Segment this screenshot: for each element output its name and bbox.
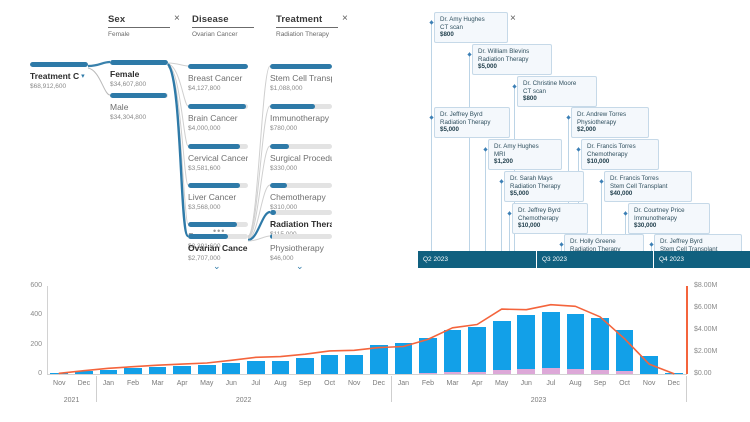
gantt-event-marker-icon: [429, 20, 433, 24]
ovarian-cancer-bar-fill: [188, 234, 228, 239]
combo-bar-base-segment[interactable]: [419, 373, 437, 374]
gantt-card-procedure: CT scan: [523, 88, 592, 96]
combo-right-tick: $4.00M: [694, 326, 717, 334]
combo-month-label: Dec: [660, 380, 688, 388]
surgical-bar-track: [270, 144, 332, 149]
gantt-card-amount: $1,200: [494, 158, 557, 166]
filter-disease-underline: [192, 27, 254, 28]
combo-year-separator: [391, 376, 392, 402]
gantt-event-card[interactable]: Dr. Amy HughesCT scan$800: [434, 12, 508, 43]
treatment-breakdown-sankey: Sex Female × Disease Ovarian Cancer × Tr…: [0, 0, 400, 278]
combo-left-axis-line: [47, 286, 48, 374]
gantt-card-doctor: Dr. Amy Hughes: [494, 143, 557, 151]
cervical-cancer-value: $3,581,600: [188, 165, 248, 173]
immunotherapy-label: Immunotherapy: [270, 113, 332, 124]
gantt-card-doctor: Dr. Jeffrey Byrd: [660, 238, 737, 246]
sankey-node-chemotherapy[interactable]: Chemotherapy $310,000: [270, 183, 332, 212]
filter-sex-name: Sex: [108, 14, 170, 25]
combo-bar[interactable]: [124, 368, 142, 374]
combo-bar-base-segment[interactable]: [517, 369, 535, 374]
gantt-event-card[interactable]: Dr. Courtney PriceImmunotherapy$30,000: [628, 203, 710, 234]
radiation-bar-fill: [270, 210, 276, 215]
female-label: Female: [110, 69, 168, 80]
gantt-card-doctor: Dr. Francis Torres: [587, 143, 654, 151]
liver-cancer-bar-fill: [188, 183, 240, 188]
gantt-card-procedure: Radiation Therapy: [510, 183, 579, 191]
sankey-node-breast-cancer[interactable]: Breast Cancer $4,127,800: [188, 64, 248, 93]
gantt-card-amount: $10,000: [518, 222, 583, 230]
root-bar-track: [30, 62, 88, 67]
physiotherapy-bar-fill: [270, 234, 272, 239]
physiotherapy-label: Physiotherapy: [270, 243, 332, 254]
gantt-card-amount: $30,000: [634, 222, 705, 230]
sankey-node-surgical-procedure[interactable]: Surgical Procedure $330,000: [270, 144, 332, 173]
cervical-cancer-label: Cervical Cancer: [188, 153, 248, 164]
combo-year-label: 2022: [224, 397, 264, 405]
gantt-event-marker-icon: [649, 242, 653, 246]
liver-cancer-value: $3,568,000: [188, 204, 248, 212]
brain-cancer-bar-fill: [188, 104, 246, 109]
sankey-node-brain-cancer[interactable]: Brain Cancer $4,000,000: [188, 104, 248, 133]
combo-bar[interactable]: [222, 363, 240, 374]
filter-sex-close-icon[interactable]: ×: [174, 13, 180, 24]
combo-left-tick: 0: [10, 370, 42, 378]
root-label-text: Treatment C: [30, 71, 79, 81]
stem-cell-value: $1,088,000: [270, 85, 332, 93]
combo-left-tick: 400: [10, 311, 42, 319]
combo-bar[interactable]: [50, 373, 68, 374]
male-bar-fill: [110, 93, 167, 98]
breast-cancer-bar-fill: [188, 64, 248, 69]
gantt-card-amount: $2,000: [577, 126, 644, 134]
gantt-card-doctor: Dr. Courtney Price: [634, 207, 705, 215]
gantt-card-amount: $800: [440, 31, 503, 39]
gantt-quarter-label: Q4 2023: [653, 251, 750, 268]
gantt-event-marker-icon: [429, 115, 433, 119]
breast-cancer-bar-track: [188, 64, 248, 69]
breast-cancer-label: Breast Cancer: [188, 73, 248, 84]
sankey-node-liver-cancer[interactable]: Liver Cancer $3,568,000: [188, 183, 248, 212]
surgical-value: $330,000: [270, 165, 332, 173]
combo-bar[interactable]: [468, 327, 486, 374]
gantt-card-procedure: Immunotherapy: [634, 215, 705, 223]
sankey-node-ovarian-cancer[interactable]: Ovarian Cancer $2,707,000: [188, 234, 248, 263]
combo-right-tick: $6.00M: [694, 304, 717, 312]
immunotherapy-bar-fill: [270, 104, 315, 109]
combo-bar[interactable]: [567, 314, 585, 374]
stem-cell-label: Stem Cell Transplant: [270, 73, 332, 84]
ovarian-cancer-bar-track: [188, 234, 248, 239]
combo-bar[interactable]: [345, 355, 363, 374]
filter-bar: Sex Female × Disease Ovarian Cancer × Tr…: [108, 14, 358, 48]
chemotherapy-label: Chemotherapy: [270, 192, 332, 203]
combo-right-tick: $0.00: [694, 370, 712, 378]
gantt-card-doctor: Dr. Jeffrey Byrd: [440, 111, 505, 119]
gantt-card-doctor: Dr. Christine Moore: [523, 80, 592, 88]
female-value: $34,607,800: [110, 81, 168, 89]
combo-bar-base-segment[interactable]: [468, 372, 486, 374]
gantt-event-marker-icon: [507, 211, 511, 215]
combo-bar[interactable]: [296, 358, 314, 374]
sankey-node-cervical-cancer[interactable]: Cervical Cancer $3,581,600: [188, 144, 248, 173]
surgical-label: Surgical Procedure: [270, 153, 332, 164]
gantt-quarter-axis: Q2 2023Q3 2023Q4 2023: [418, 251, 750, 268]
gantt-event-marker-icon: [499, 179, 503, 183]
male-bar-track: [110, 93, 168, 98]
gantt-event-marker-icon: [559, 242, 563, 246]
breast-cancer-value: $4,127,800: [188, 85, 248, 93]
radiation-bar-track: [270, 210, 332, 215]
combo-right-tick: $2.00M: [694, 348, 717, 356]
gantt-card-doctor: Dr. Jeffrey Byrd: [518, 207, 583, 215]
gantt-event-gridline: [485, 147, 486, 251]
gantt-event-card[interactable]: Dr. Jeffrey ByrdChemotherapy$10,000: [512, 203, 588, 234]
combo-bar-base-segment[interactable]: [444, 372, 462, 374]
disease-expand-chevron-icon[interactable]: ⌄: [213, 262, 221, 271]
gantt-card-doctor: Dr. Andrew Torres: [577, 111, 644, 119]
radiation-label: Radiation Therapy: [270, 219, 332, 230]
combo-bar[interactable]: [100, 370, 118, 374]
combo-baseline: [47, 374, 687, 375]
cervical-cancer-bar-track: [188, 144, 248, 149]
sankey-node-stem-cell-transplant[interactable]: Stem Cell Transplant $1,088,000: [270, 64, 332, 93]
volume-and-cost-combo-chart: 0200400600 $0.00$2.00M$4.00M$6.00M$8.00M…: [0, 282, 750, 422]
gantt-card-procedure: MRI: [494, 151, 557, 159]
liver-cancer-label: Liver Cancer: [188, 192, 248, 203]
combo-bar-base-segment[interactable]: [591, 370, 609, 374]
filter-sex-underline: [108, 27, 170, 28]
combo-bar[interactable]: [149, 367, 167, 374]
treatment-expand-chevron-icon[interactable]: ⌄: [296, 262, 304, 271]
gantt-card-amount: $40,000: [610, 190, 687, 198]
gantt-card-procedure: Physiotherapy: [577, 119, 644, 127]
combo-bar[interactable]: [542, 312, 560, 374]
filter-disease[interactable]: Disease Ovarian Cancer ×: [192, 14, 254, 39]
gantt-event-marker-icon: [467, 52, 471, 56]
gantt-event-card[interactable]: Dr. Amy HughesMRI$1,200: [488, 139, 562, 170]
combo-bar-base-segment[interactable]: [567, 369, 585, 374]
gantt-event-gridline: [501, 179, 502, 251]
filter-treatment-value: Radiation Therapy: [276, 31, 338, 39]
female-bar-fill: [110, 60, 168, 65]
gantt-event-gridline: [509, 211, 510, 251]
combo-left-tick: 200: [10, 341, 42, 349]
combo-right-tick: $8.00M: [694, 282, 717, 290]
combo-bar[interactable]: [517, 315, 535, 374]
gantt-card-procedure: Radiation Therapy: [440, 119, 505, 127]
treatment-timeline-gantt: Dr. Amy HughesCT scan$800Dr. William Ble…: [418, 8, 750, 276]
gantt-event-card[interactable]: Dr. Jeffrey ByrdRadiation Therapy$5,000: [434, 107, 510, 138]
filter-sex[interactable]: Sex Female ×: [108, 14, 170, 39]
chemotherapy-bar-track: [270, 183, 332, 188]
combo-bar-base-segment[interactable]: [542, 368, 560, 374]
combo-year-label: 2021: [52, 397, 92, 405]
cervical-cancer-bar-fill: [188, 144, 240, 149]
combo-bar[interactable]: [395, 343, 413, 374]
combo-bar[interactable]: [419, 338, 437, 374]
physiotherapy-bar-track: [270, 234, 332, 239]
combo-bar[interactable]: [493, 321, 511, 374]
sankey-node-physiotherapy[interactable]: Physiotherapy $46,000: [270, 234, 332, 263]
root-label: Treatment C▾: [30, 71, 88, 82]
combo-year-label: 2023: [519, 397, 559, 405]
ovarian-cancer-label: Ovarian Cancer: [188, 243, 248, 254]
combo-bar[interactable]: [75, 371, 93, 374]
immunotherapy-value: $780,000: [270, 125, 332, 133]
root-value: $68,912,600: [30, 83, 88, 91]
sankey-node-root[interactable]: Treatment C▾ $68,912,600: [30, 62, 88, 91]
female-bar-track: [110, 60, 168, 65]
root-bar-fill: [30, 62, 88, 67]
gantt-card-procedure: Chemotherapy: [587, 151, 654, 159]
filter-disease-close-icon[interactable]: ×: [342, 13, 348, 24]
gantt-event-marker-icon: [483, 147, 487, 151]
gantt-event-marker-icon: [599, 179, 603, 183]
gantt-event-card[interactable]: Dr. Sarah MaysRadiation Therapy$5,000: [504, 171, 584, 202]
combo-year-separator-end: [686, 376, 687, 402]
combo-bar[interactable]: [591, 318, 609, 374]
gantt-event-marker-icon: [576, 147, 580, 151]
gantt-card-doctor: Dr. Amy Hughes: [440, 16, 503, 24]
liver-cancer-bar-track: [188, 183, 248, 188]
gantt-card-amount: $800: [523, 95, 592, 103]
combo-bar[interactable]: [444, 330, 462, 374]
gantt-event-gridline: [469, 52, 470, 251]
male-label: Male: [110, 102, 168, 113]
gantt-event-marker-icon: [566, 115, 570, 119]
stem-cell-bar-track: [270, 64, 332, 69]
gantt-card-amount: $5,000: [440, 126, 505, 134]
gantt-card-procedure: Chemotherapy: [518, 215, 583, 223]
filter-disease-name: Disease: [192, 14, 254, 25]
gantt-card-doctor: Dr. William Blevins: [478, 48, 547, 56]
brain-cancer-value: $4,000,000: [188, 125, 248, 133]
chemotherapy-bar-fill: [270, 183, 287, 188]
gantt-card-amount: $5,000: [478, 63, 547, 71]
combo-bar-base-segment[interactable]: [493, 370, 511, 374]
stem-cell-bar-fill: [270, 64, 332, 69]
combo-bar-base-segment[interactable]: [616, 371, 634, 374]
gantt-event-marker-icon: [623, 211, 627, 215]
combo-left-tick: 600: [10, 282, 42, 290]
gantt-card-procedure: Stem Cell Transplant: [610, 183, 687, 191]
gantt-event-marker-icon: [512, 84, 516, 88]
combo-bar[interactable]: [198, 365, 216, 374]
gantt-card-amount: $5,000: [510, 190, 579, 198]
gantt-event-card[interactable]: Dr. William BlevinsRadiation Therapy$5,0…: [472, 44, 552, 75]
immunotherapy-bar-track: [270, 104, 332, 109]
gantt-event-card[interactable]: Dr. Francis TorresChemotherapy$10,000: [581, 139, 659, 170]
filter-treatment-name: Treatment: [276, 14, 338, 25]
male-value: $34,304,800: [110, 114, 168, 122]
gantt-card-procedure: Radiation Therapy: [478, 56, 547, 64]
combo-bar[interactable]: [173, 366, 191, 374]
surgical-bar-fill: [270, 144, 289, 149]
gantt-card-procedure: CT scan: [440, 24, 503, 32]
gantt-card-amount: $10,000: [587, 158, 654, 166]
filter-sex-value: Female: [108, 31, 170, 39]
combo-bar[interactable]: [272, 361, 290, 374]
filter-disease-value: Ovarian Cancer: [192, 31, 254, 39]
combo-bar[interactable]: [321, 355, 339, 374]
root-dropdown-caret-icon[interactable]: ▾: [81, 71, 85, 82]
filter-treatment-underline: [276, 27, 338, 28]
gantt-event-card[interactable]: Dr. Francis TorresStem Cell Transplant$4…: [604, 171, 692, 202]
gantt-card-doctor: Dr. Holly Greene: [570, 238, 639, 246]
combo-bar[interactable]: [247, 361, 265, 374]
gantt-event-card[interactable]: Dr. Christine MooreCT scan$800: [517, 76, 597, 107]
combo-bar[interactable]: [616, 330, 634, 374]
combo-bar[interactable]: [370, 345, 388, 374]
combo-year-separator: [96, 376, 97, 402]
sankey-node-female[interactable]: Female $34,607,800: [110, 60, 168, 89]
brain-cancer-bar-track: [188, 104, 248, 109]
combo-right-axis-line: [686, 286, 688, 374]
gantt-event-card[interactable]: Dr. Andrew TorresPhysiotherapy$2,000: [571, 107, 649, 138]
gantt-card-doctor: Dr. Francis Torres: [610, 175, 687, 183]
combo-bar[interactable]: [640, 356, 658, 374]
sankey-node-immunotherapy[interactable]: Immunotherapy $780,000: [270, 104, 332, 133]
filter-treatment[interactable]: Treatment Radiation Therapy ×: [276, 14, 338, 39]
brain-cancer-label: Brain Cancer: [188, 113, 248, 124]
gantt-card-doctor: Dr. Sarah Mays: [510, 175, 579, 183]
combo-bar[interactable]: [665, 373, 683, 374]
gantt-quarter-label: Q2 2023: [418, 251, 536, 268]
sankey-node-male[interactable]: Male $34,304,800: [110, 93, 168, 122]
gantt-event-gridline: [431, 115, 432, 251]
gantt-quarter-label: Q3 2023: [536, 251, 653, 268]
